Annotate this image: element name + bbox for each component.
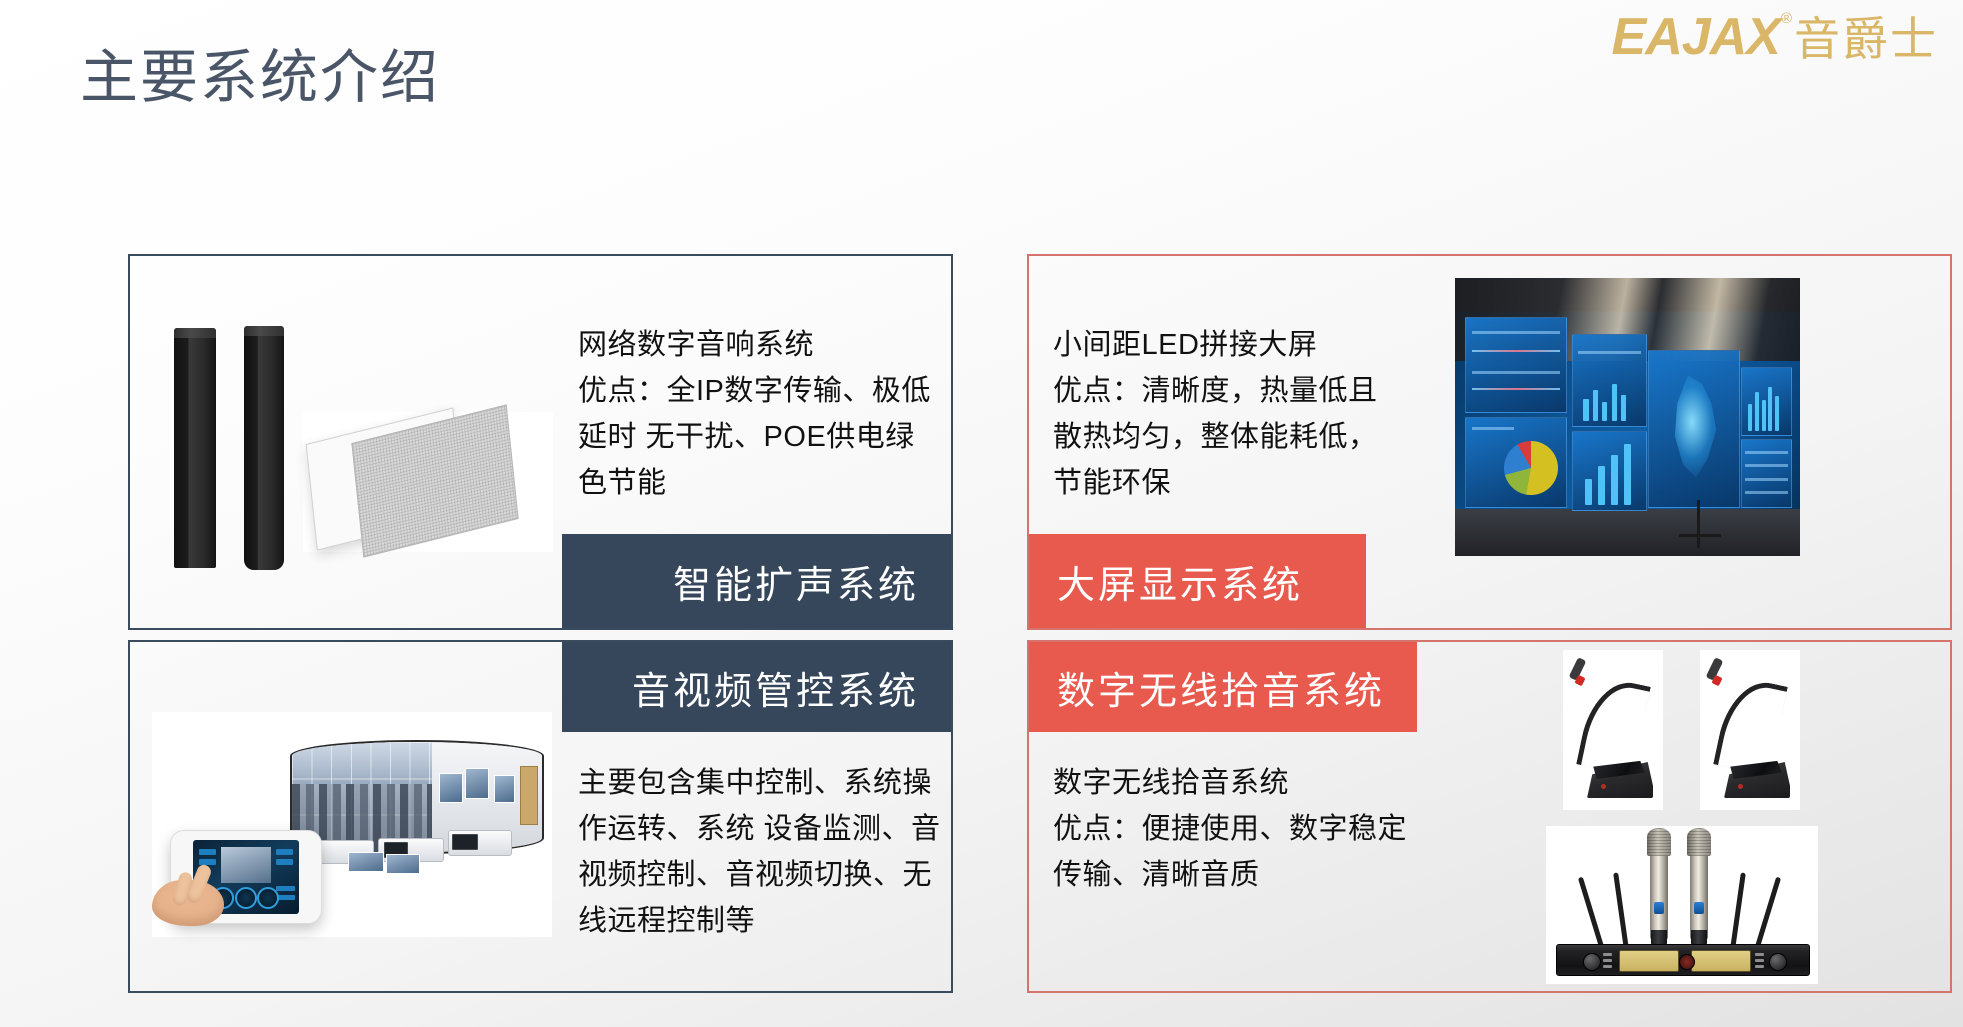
logo-registered-mark: ®	[1781, 8, 1792, 30]
wireless-receiver-photo	[1546, 826, 1818, 984]
control-room-photo	[152, 712, 552, 937]
banner-label: 音视频管控系统	[632, 660, 919, 715]
banner-digital-wireless-pickup[interactable]: 数字无线拾音系统	[1029, 642, 1417, 732]
banner-intelligent-sound-reinforcement[interactable]: 智能扩声系统	[562, 534, 951, 628]
ceiling-speaker-photo	[303, 412, 553, 552]
banner-av-management-control[interactable]: 音视频管控系统	[562, 642, 951, 732]
card-body-digital-wireless-pickup: 数字无线拾音系统 优点：便捷使用、数字稳定传输、清晰音质	[1053, 760, 1433, 898]
brand-logo: EAJAX ® 音爵士	[1612, 8, 1938, 70]
card-body-large-screen-display: 小间距LED拼接大屏 优点：清晰度，热量低且散热均匀，整体能耗低，节能环保	[1053, 322, 1393, 506]
banner-label: 大屏显示系统	[1057, 554, 1303, 609]
gooseneck-microphone-photo	[1563, 650, 1663, 810]
logo-latin-text: EAJAX	[1612, 8, 1780, 66]
card-body-intelligent-sound-reinforcement: 网络数字音响系统 优点：全IP数字传输、极低延时 无干扰、POE供电绿色节能	[578, 322, 938, 506]
gooseneck-microphone-photo	[1700, 650, 1800, 810]
card-body-av-management-control: 主要包含集中控制、系统操作运转、系统 设备监测、音视频控制、音视频切换、无线远程…	[578, 760, 948, 944]
slide-canvas: 主要系统介绍 EAJAX ® 音爵士 网络数字音响系统 优点：全IP数字传输、极…	[0, 0, 1963, 1027]
page-title: 主要系统介绍	[80, 30, 440, 114]
banner-label: 数字无线拾音系统	[1057, 660, 1385, 715]
logo-chinese-text: 音爵士	[1794, 8, 1938, 70]
banner-large-screen-display[interactable]: 大屏显示系统	[1029, 534, 1366, 628]
led-video-wall-photo	[1455, 278, 1800, 556]
banner-label: 智能扩声系统	[673, 554, 919, 609]
